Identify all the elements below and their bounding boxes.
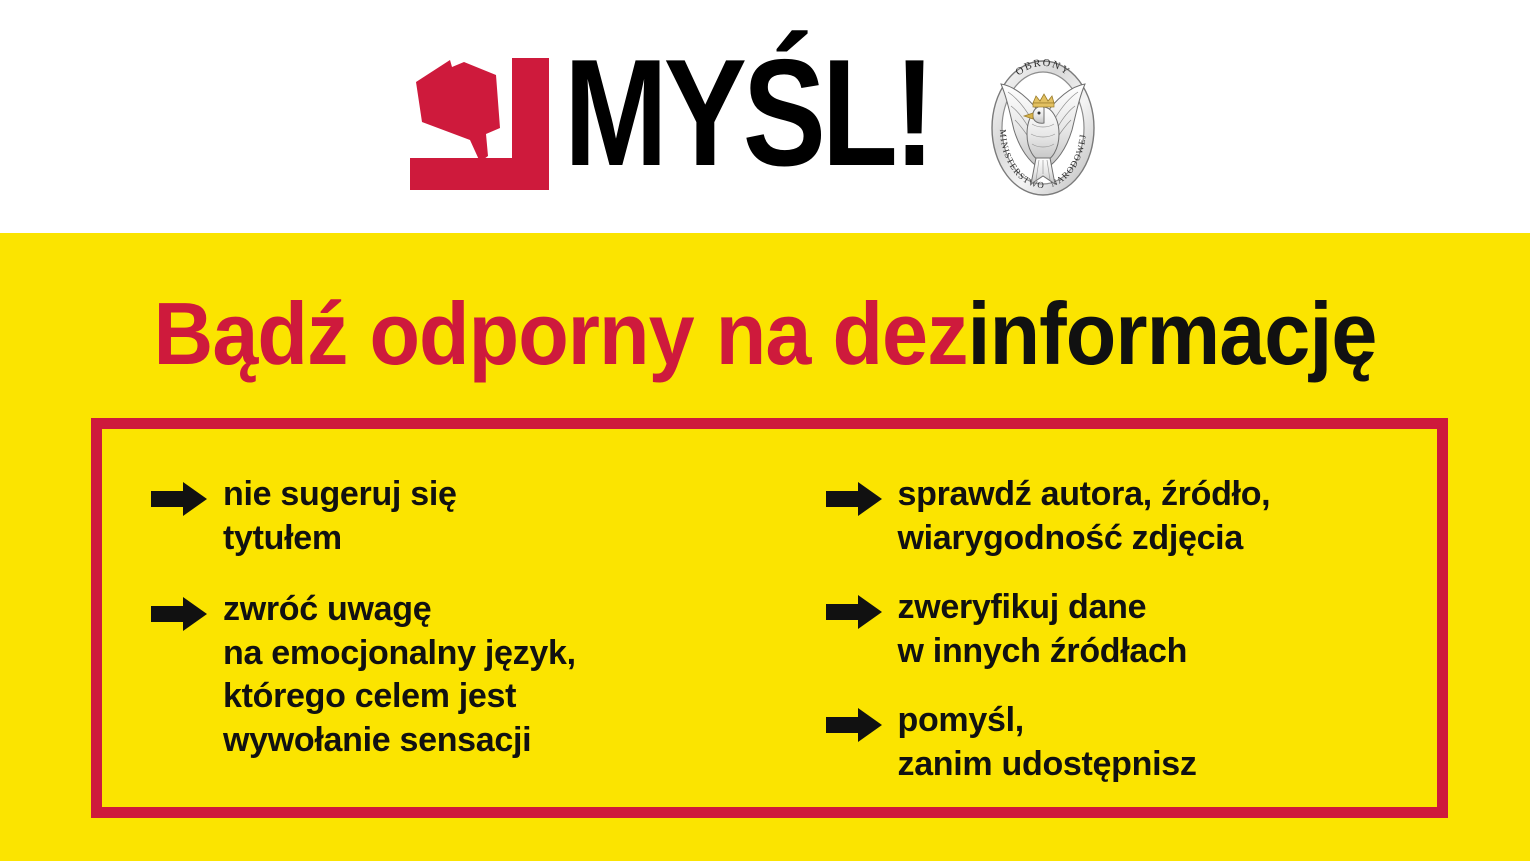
body-band: Bądź odporny na dezinformację nie sugeru… [0,233,1530,861]
brand-lockup: MYŚL! [408,36,1102,198]
list-item-label: pomyśl, zanim udostępnisz [898,699,1197,786]
list-item-label: sprawdź autora, źródło, wiarygodność zdj… [898,473,1271,560]
poster-root: MYŚL! [0,0,1530,861]
tips-columns: nie sugeruj się tytułem zwróć uwagę na e… [102,429,1437,807]
ministry-eagle-seal-icon: OBRONY MINISTERSTWO NARODOWEJ [984,58,1102,198]
list-item: sprawdź autora, źródło, wiarygodność zdj… [826,473,1438,560]
list-item: pomyśl, zanim udostępnisz [826,699,1438,786]
list-item: zwróć uwagę na emocjonalny język, któreg… [151,588,770,762]
tips-column-right: sprawdź autora, źródło, wiarygodność zdj… [770,429,1438,807]
list-item-label: zwróć uwagę na emocjonalny język, któreg… [223,588,576,762]
poland-map-bracket-icon [408,58,558,190]
brand-wordmark: MYŚL! [564,44,931,184]
tips-column-left: nie sugeruj się tytułem zwróć uwagę na e… [102,429,770,807]
list-item: zweryfikuj dane w innych źródłach [826,586,1438,673]
page-title: Bądź odporny na dezinformację [46,290,1484,378]
list-item-label: nie sugeruj się tytułem [223,473,457,560]
header-band: MYŚL! [0,0,1530,233]
headline-red-part: Bądź odporny na dez [154,284,968,383]
arrow-right-icon [826,479,882,519]
headline-black-part: informację [968,284,1377,383]
arrow-right-icon [826,592,882,632]
list-item-label: zweryfikuj dane w innych źródłach [898,586,1188,673]
arrow-right-icon [151,594,207,634]
list-item: nie sugeruj się tytułem [151,473,770,560]
arrow-right-icon [826,705,882,745]
tips-frame: nie sugeruj się tytułem zwróć uwagę na e… [91,418,1448,818]
arrow-right-icon [151,479,207,519]
